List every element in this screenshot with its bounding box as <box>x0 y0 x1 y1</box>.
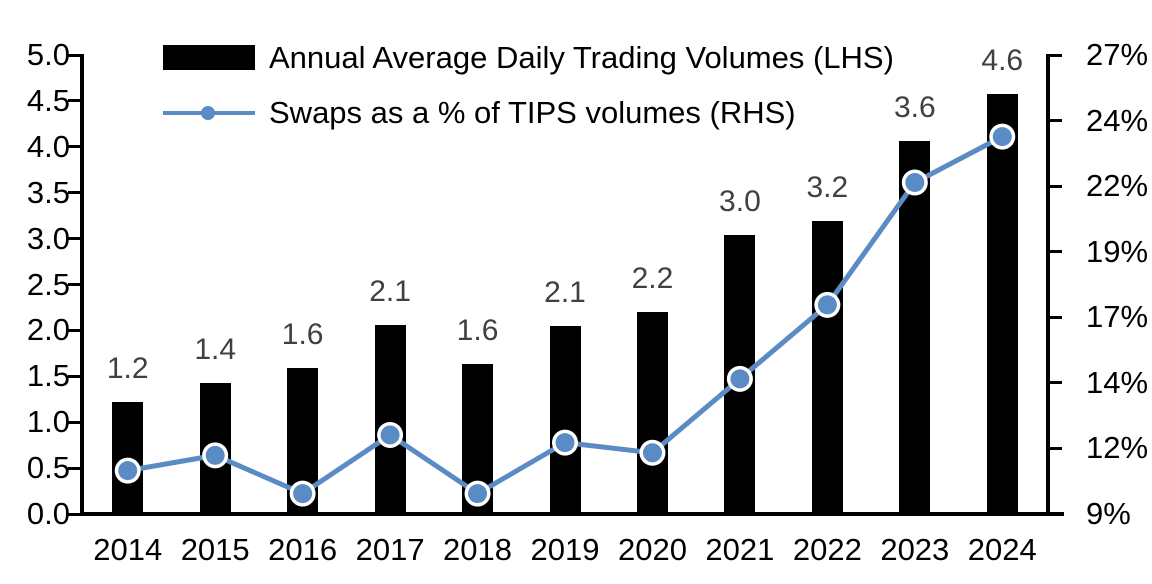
x-axis-tick-label: 2020 <box>602 534 702 565</box>
x-axis-tick-label: 2014 <box>78 534 178 565</box>
legend-item-line[interactable]: Swaps as a % of TIPS volumes (RHS) <box>163 97 796 128</box>
x-axis-tick-label: 2018 <box>428 534 528 565</box>
legend-label-line: Swaps as a % of TIPS volumes (RHS) <box>269 97 796 128</box>
legend-line-marker-swatch-icon <box>163 102 255 124</box>
line-series-layer <box>0 0 1152 584</box>
line-series-markers <box>115 124 1016 507</box>
line-marker <box>381 425 400 444</box>
line-marker <box>905 173 924 192</box>
legend-bar-swatch-icon <box>163 45 255 70</box>
line-marker <box>993 127 1012 146</box>
x-axis-tick-label: 2016 <box>253 534 353 565</box>
legend-label-bars: Annual Average Daily Trading Volumes (LH… <box>269 42 894 73</box>
x-axis-tick-label: 2022 <box>777 534 877 565</box>
legend-item-bars[interactable]: Annual Average Daily Trading Volumes (LH… <box>163 42 894 73</box>
line-marker <box>206 446 225 465</box>
line-marker <box>556 433 575 452</box>
line-marker <box>818 295 837 314</box>
line-marker <box>118 461 137 480</box>
x-axis-tick-label: 2019 <box>515 534 615 565</box>
chart-container: 0.00.51.01.52.02.53.03.54.04.55.0 9%12%1… <box>0 0 1152 584</box>
x-axis-tick-label: 2017 <box>340 534 440 565</box>
x-axis-tick-label: 2021 <box>690 534 790 565</box>
line-marker <box>730 369 749 388</box>
x-axis-tick-label: 2024 <box>952 534 1052 565</box>
line-marker <box>643 443 662 462</box>
x-axis-tick-label: 2023 <box>865 534 965 565</box>
line-marker <box>293 484 312 503</box>
x-axis-tick-label: 2015 <box>165 534 265 565</box>
line-marker <box>468 484 487 503</box>
